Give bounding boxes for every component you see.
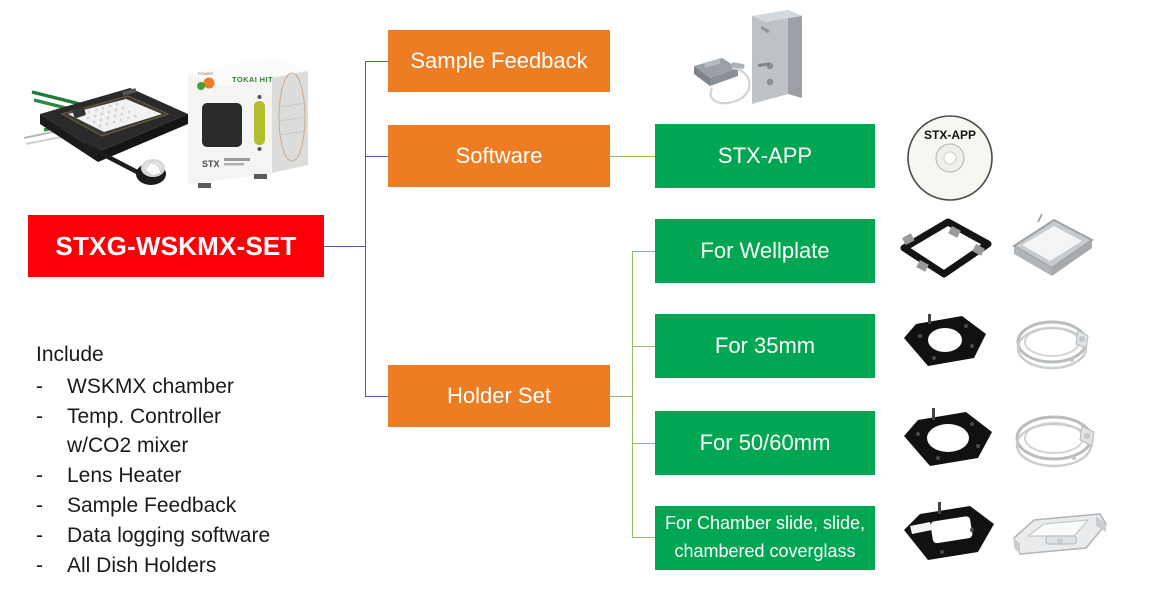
svg-text:TOKAI HIT: TOKAI HIT: [232, 75, 273, 84]
connector-to-chamber-slide: [632, 537, 655, 538]
product-label: For 35mm: [715, 333, 815, 359]
stx-app-disc-photo: STX-APP: [898, 108, 1002, 208]
product-label: STX-APP: [718, 143, 812, 169]
list-item-label: Temp. Controller w/CO2 mixer: [67, 402, 221, 462]
list-item-label: All Dish Holders: [67, 551, 216, 581]
connector-holderset-to-trunk: [610, 396, 633, 397]
chamber-slide-photo: [1010, 508, 1110, 570]
connector-to-wellplate: [632, 251, 655, 252]
product-label: For Wellplate: [700, 238, 829, 264]
category-holder-set[interactable]: Holder Set: [388, 365, 610, 427]
sample-feedback-sensor-photo: [692, 8, 818, 118]
bullet-dash: -: [36, 372, 67, 402]
connector-to-5060mm: [632, 443, 655, 444]
list-item-label: Sample Feedback: [67, 491, 236, 521]
dish-35mm-photo: [1012, 312, 1096, 376]
list-item-label: Lens Heater: [67, 461, 181, 491]
svg-text:STX-APP: STX-APP: [924, 128, 976, 142]
bullet-dash: -: [36, 521, 67, 551]
list-item: - All Dish Holders: [36, 551, 270, 581]
list-item: - WSKMX chamber: [36, 372, 270, 402]
chamber-slide-holder-photo: [900, 502, 998, 572]
product-stx-app[interactable]: STX-APP: [655, 124, 875, 188]
include-items: - WSKMX chamber - Temp. Controller w/CO2…: [36, 372, 270, 581]
product-for-50-60mm[interactable]: For 50/60mm: [655, 411, 875, 475]
connector-to-software: [365, 156, 389, 157]
product-for-35mm[interactable]: For 35mm: [655, 314, 875, 378]
list-item: - Lens Heater: [36, 461, 270, 491]
include-heading: Include: [36, 340, 270, 370]
list-item: - Sample Feedback: [36, 491, 270, 521]
bullet-dash: -: [36, 461, 67, 491]
list-item: - Temp. Controller w/CO2 mixer: [36, 402, 270, 462]
connector-software-to-stx-app: [610, 156, 655, 157]
connector-blue-trunk: [365, 61, 366, 396]
category-software[interactable]: Software: [388, 125, 610, 187]
connector-to-sample-feedback: [365, 61, 389, 62]
product-for-wellplate[interactable]: For Wellplate: [655, 219, 875, 283]
product-title-box: STXG-WSKMX-SET: [28, 215, 324, 277]
category-sample-feedback[interactable]: Sample Feedback: [388, 30, 610, 92]
svg-text:POWER: POWER: [198, 71, 213, 76]
bullet-dash: -: [36, 491, 67, 521]
product-for-chamber-slide[interactable]: For Chamber slide, slide, chambered cove…: [655, 506, 875, 570]
holder-5060mm-photo: [900, 406, 998, 478]
page-title: STXG-WSKMX-SET: [55, 231, 296, 262]
svg-text:STX: STX: [202, 159, 220, 169]
connector-red-to-trunk: [324, 246, 366, 247]
wellplate-insert-photo: [1008, 212, 1098, 282]
category-label: Sample Feedback: [410, 48, 587, 74]
dish-5060mm-photo: [1012, 410, 1100, 474]
include-list: Include - WSKMX chamber - Temp. Controll…: [36, 340, 270, 581]
list-item: - Data logging software: [36, 521, 270, 551]
diagram-canvas: POWER TOKAI HIT STX STXG-WSKMX-SET Inclu…: [0, 0, 1162, 592]
connector-to-35mm: [632, 346, 655, 347]
bullet-dash: -: [36, 551, 67, 581]
product-label: For Chamber slide, slide, chambered cove…: [659, 510, 871, 566]
category-label: Holder Set: [447, 383, 551, 409]
holder-35mm-photo: [900, 308, 992, 378]
temp-controller-photo: POWER TOKAI HIT STX: [180, 45, 320, 190]
list-item-label: WSKMX chamber: [67, 372, 234, 402]
connector-to-holder-set: [365, 396, 389, 397]
bullet-dash: -: [36, 402, 67, 462]
list-item-label: Data logging software: [67, 521, 270, 551]
product-label: For 50/60mm: [700, 430, 831, 456]
connector-green-trunk: [632, 251, 633, 537]
category-label: Software: [456, 143, 543, 169]
lens-heater-photo: [85, 140, 190, 192]
wellplate-holder-photo: [898, 212, 994, 286]
